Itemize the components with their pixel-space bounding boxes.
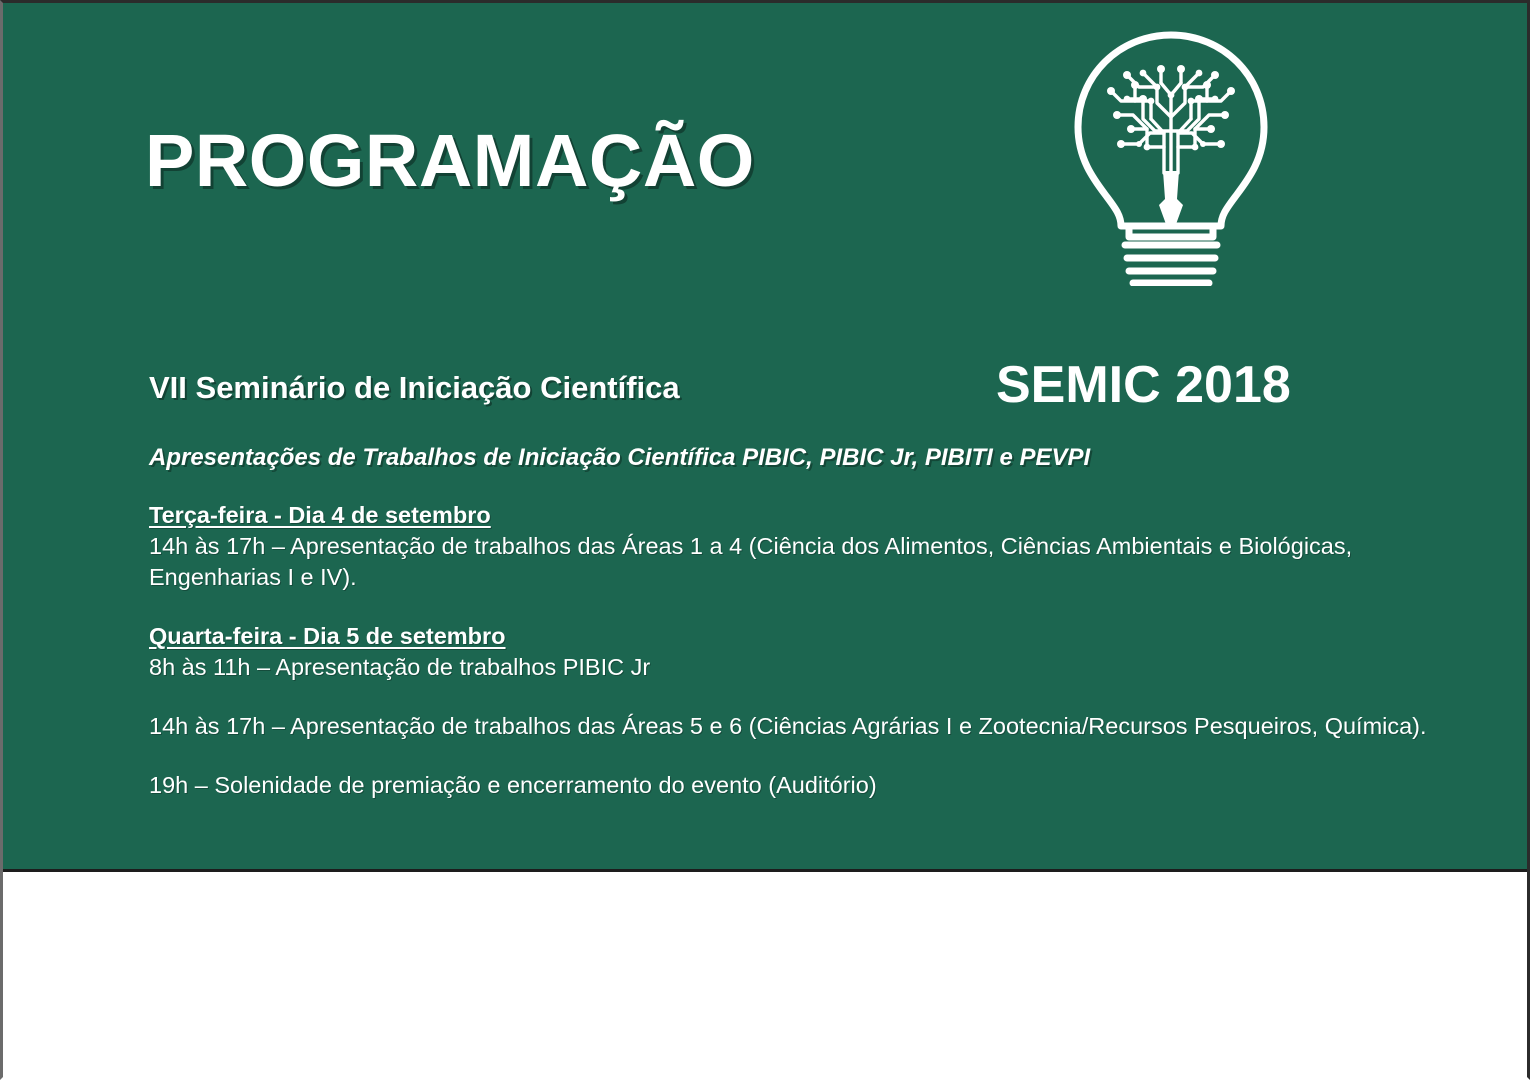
schedule-line: 14h às 17h – Apresentação de trabalhos d… xyxy=(149,711,1429,742)
programacao-poster: PROGRAMAÇÃO xyxy=(0,0,1530,1080)
schedule-block: Terça-feira - Dia 4 de setembro 14h às 1… xyxy=(149,500,1429,593)
page-title: PROGRAMAÇÃO xyxy=(145,118,755,203)
schedule-block: 19h – Solenidade de premiação e encerram… xyxy=(149,770,1429,801)
poster-footer: ANOS IFCE Campus Limoeiro do Norte xyxy=(3,875,1527,1077)
schedule-line: 14h às 17h – Apresentação de trabalhos d… xyxy=(149,531,1429,593)
schedule-list: Terça-feira - Dia 4 de setembro 14h às 1… xyxy=(149,500,1429,801)
event-heading: VII Seminário de Iniciação Científica xyxy=(149,370,680,406)
poster-green-panel: PROGRAMAÇÃO xyxy=(3,3,1527,872)
schedule-block: 14h às 17h – Apresentação de trabalhos d… xyxy=(149,711,1429,742)
event-acronym: SEMIC 2018 xyxy=(996,355,1291,415)
schedule-line: 19h – Solenidade de premiação e encerram… xyxy=(149,770,1429,801)
schedule-day-heading: Quarta-feira - Dia 5 de setembro xyxy=(149,621,1429,652)
schedule-day-heading: Terça-feira - Dia 4 de setembro xyxy=(149,500,1429,531)
lightbulb-circuit-tree-icon xyxy=(1051,21,1291,286)
schedule-line: 8h às 11h – Apresentação de trabalhos PI… xyxy=(149,652,1429,683)
event-subtitle: Apresentações de Trabalhos de Iniciação … xyxy=(149,444,1090,472)
schedule-block: Quarta-feira - Dia 5 de setembro 8h às 1… xyxy=(149,621,1429,683)
